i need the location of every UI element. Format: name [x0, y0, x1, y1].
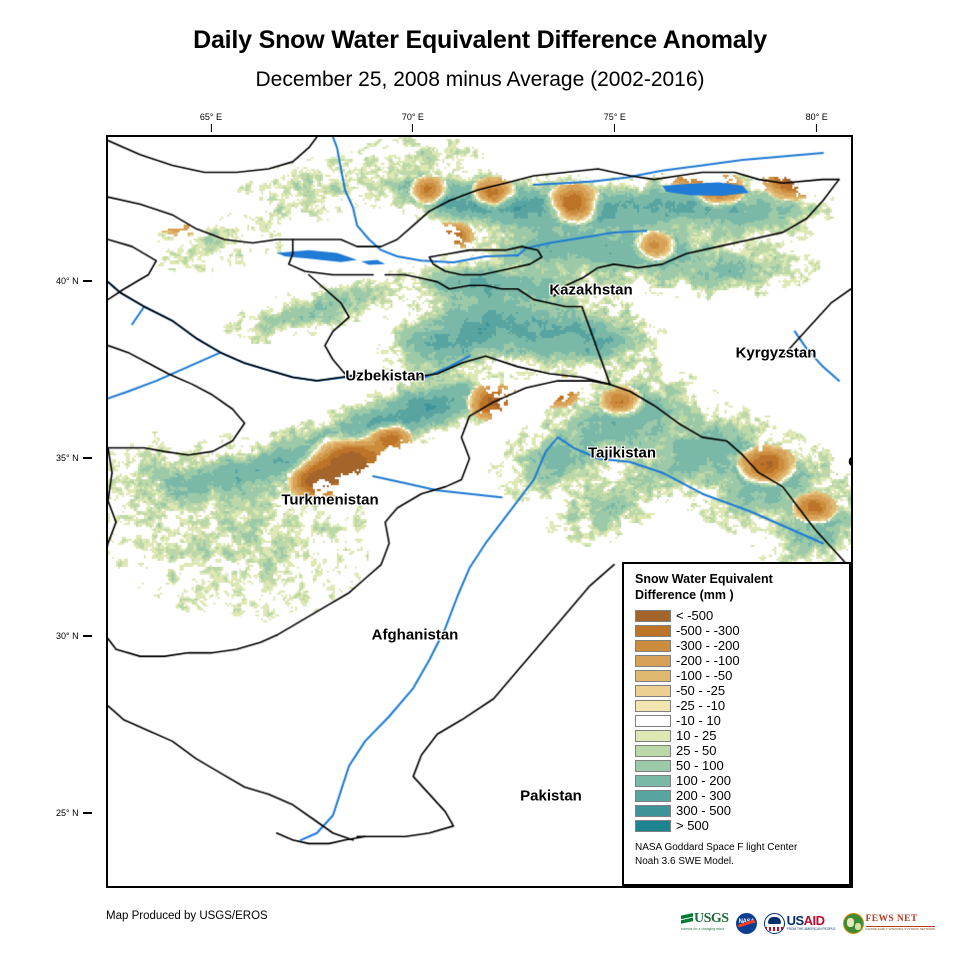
legend-color-swatch: [635, 805, 671, 817]
legend-range-label: -50 - -25: [676, 684, 725, 697]
lon-tick-label: 75° E: [604, 112, 626, 122]
lat-tick-40: 40° N: [56, 276, 92, 286]
legend-row: -50 - -25: [635, 683, 840, 698]
legend-color-swatch: [635, 625, 671, 637]
tick-mark: [83, 812, 92, 814]
usaid-tagline: FROM THE AMERICAN PEOPLE: [787, 928, 836, 931]
legend-swatch-list: < -500-500 - -300-300 - -200-200 - -100-…: [635, 608, 840, 833]
legend-color-swatch: [635, 790, 671, 802]
tick-mark: [816, 124, 817, 132]
legend-range-label: 10 - 25: [676, 729, 716, 742]
lat-tick-label: 40° N: [56, 276, 79, 286]
legend-range-label: 50 - 100: [676, 759, 724, 772]
legend-color-swatch: [635, 730, 671, 742]
legend-range-label: < -500: [676, 609, 713, 622]
legend-range-label: -200 - -100: [676, 654, 740, 667]
legend-panel: Snow Water Equivalent Difference (mm ) <…: [622, 562, 851, 886]
page-subtitle: December 25, 2008 minus Average (2002-20…: [0, 68, 960, 92]
legend-footer-line2: Noah 3.6 SWE Model.: [635, 855, 840, 869]
legend-row: -300 - -200: [635, 638, 840, 653]
agency-logos: USGS science for a changing world NASA U…: [681, 910, 935, 936]
legend-title: Snow Water Equivalent Difference (mm ): [635, 572, 840, 603]
legend-range-label: -300 - -200: [676, 639, 740, 652]
legend-row: 100 - 200: [635, 773, 840, 788]
lat-tick-label: 30° N: [56, 631, 79, 641]
usaid-wordmark-us: US: [787, 913, 804, 928]
legend-color-swatch: [635, 685, 671, 697]
page-title: Daily Snow Water Equivalent Difference A…: [0, 26, 960, 55]
lon-tick-label: 65° E: [200, 112, 222, 122]
legend-row: -25 - -10: [635, 698, 840, 713]
legend-row: 25 - 50: [635, 743, 840, 758]
legend-color-swatch: [635, 640, 671, 652]
tick-mark: [83, 635, 92, 637]
legend-color-swatch: [635, 745, 671, 757]
lat-tick-30: 30° N: [56, 631, 92, 641]
legend-color-swatch: [635, 700, 671, 712]
legend-color-swatch: [635, 715, 671, 727]
legend-color-swatch: [635, 610, 671, 622]
legend-row: -10 - 10: [635, 713, 840, 728]
tick-mark: [210, 124, 211, 132]
legend-row: 300 - 500: [635, 803, 840, 818]
usaid-seal-icon: [764, 913, 785, 934]
map-credit: Map Produced by USGS/EROS: [106, 910, 268, 922]
legend-range-label: > 500: [676, 819, 709, 832]
lat-tick-label: 25° N: [56, 808, 79, 818]
legend-row: 50 - 100: [635, 758, 840, 773]
lat-tick-label: 35° N: [56, 453, 79, 463]
legend-range-label: -25 - -10: [676, 699, 725, 712]
tick-mark: [83, 457, 92, 459]
tick-mark: [412, 124, 413, 132]
nasa-wordmark: NASA: [739, 919, 755, 925]
legend-range-label: -500 - -300: [676, 624, 740, 637]
nasa-logo: NASA: [736, 912, 757, 934]
lon-tick-65: 65° E: [200, 112, 222, 132]
lat-tick-35: 35° N: [56, 453, 92, 463]
lon-tick-80: 80° E: [806, 112, 828, 132]
nasa-meatball-icon: NASA: [736, 913, 757, 934]
legend-row: 200 - 300: [635, 788, 840, 803]
fews-wordmark: FEWS NET: [866, 915, 936, 925]
tick-mark: [614, 124, 615, 132]
legend-range-label: 25 - 50: [676, 744, 716, 757]
legend-row: -200 - -100: [635, 653, 840, 668]
legend-footer: NASA Goddard Space F light Center Noah 3…: [635, 841, 840, 868]
legend-range-label: -10 - 10: [676, 714, 721, 727]
legend-color-swatch: [635, 670, 671, 682]
map-page: Daily Snow Water Equivalent Difference A…: [0, 0, 960, 960]
fews-net-logo: FEWS NET FAMINE EARLY WARNING SYSTEMS NE…: [843, 912, 936, 934]
tick-mark: [83, 280, 92, 282]
usgs-tagline: science for a changing world: [681, 927, 724, 931]
fews-tagline: FAMINE EARLY WARNING SYSTEMS NETWORK: [866, 928, 936, 931]
usgs-wave-icon: [681, 913, 693, 925]
fews-globe-icon: [843, 913, 864, 934]
lon-tick-label: 70° E: [402, 112, 424, 122]
legend-color-swatch: [635, 760, 671, 772]
legend-row: < -500: [635, 608, 840, 623]
lat-tick-25: 25° N: [56, 808, 92, 818]
legend-color-swatch: [635, 775, 671, 787]
legend-range-label: 200 - 300: [676, 789, 731, 802]
lon-tick-75: 75° E: [604, 112, 626, 132]
lon-tick-70: 70° E: [402, 112, 424, 132]
legend-title-line1: Snow Water Equivalent: [635, 572, 840, 588]
lon-tick-label: 80° E: [806, 112, 828, 122]
usaid-logo: USAID FROM THE AMERICAN PEOPLE: [764, 912, 836, 934]
legend-row: > 500: [635, 818, 840, 833]
legend-row: -100 - -50: [635, 668, 840, 683]
legend-row: 10 - 25: [635, 728, 840, 743]
legend-row: -500 - -300: [635, 623, 840, 638]
legend-color-swatch: [635, 655, 671, 667]
usgs-logo: USGS science for a changing world: [681, 912, 729, 934]
usaid-wordmark-aid: AID: [804, 913, 825, 928]
legend-range-label: -100 - -50: [676, 669, 732, 682]
legend-range-label: 300 - 500: [676, 804, 731, 817]
legend-color-swatch: [635, 820, 671, 832]
legend-title-line2: Difference (mm ): [635, 588, 840, 604]
usgs-wordmark: USGS: [694, 912, 729, 926]
legend-footer-line1: NASA Goddard Space F light Center: [635, 841, 840, 855]
legend-range-label: 100 - 200: [676, 774, 731, 787]
